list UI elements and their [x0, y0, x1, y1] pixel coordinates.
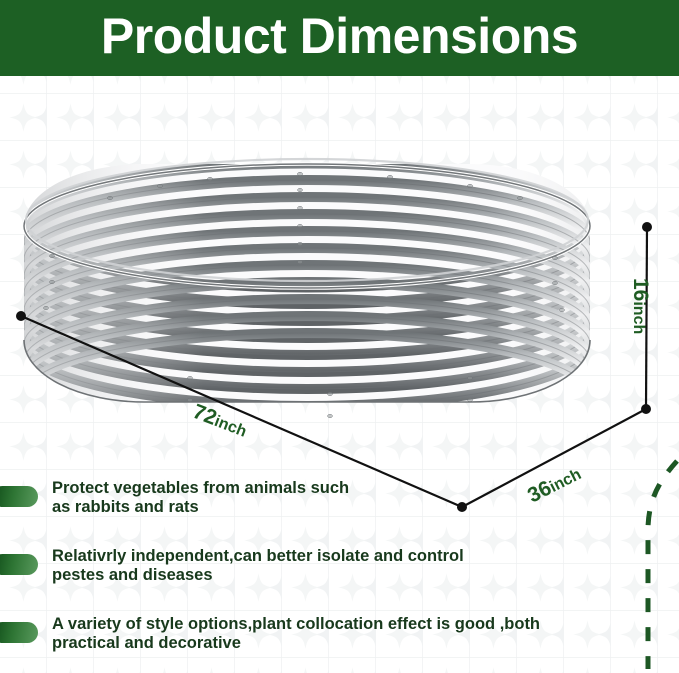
feature-text: Relativrly independent,can better isolat… — [52, 547, 464, 586]
feature-text: A variety of style options,plant colloca… — [52, 615, 540, 654]
feature-line-1: Relativrly independent,can better isolat… — [52, 547, 464, 565]
product-illustration — [0, 78, 679, 518]
outer-wall-ribs — [0, 148, 679, 457]
feature-list: Protect vegetables from animals such as … — [0, 473, 679, 673]
bullet-pill-icon — [0, 622, 38, 643]
list-item: A variety of style options,plant colloca… — [0, 609, 679, 673]
header-banner: Product Dimensions — [0, 0, 679, 76]
product-dimensions-infographic: 72inch 36inch 16inch Product Dimensions … — [0, 0, 679, 673]
page-title: Product Dimensions — [101, 11, 578, 65]
feature-line-2: pestes and diseases — [52, 566, 464, 585]
height-dimension-label: 16inch — [628, 278, 652, 334]
list-item: Relativrly independent,can better isolat… — [0, 541, 679, 609]
bullet-pill-icon — [0, 486, 38, 507]
feature-line-2: practical and decorative — [52, 634, 540, 653]
feature-line-2: as rabbits and rats — [52, 498, 349, 517]
bullet-pill-icon — [0, 554, 38, 575]
feature-text: Protect vegetables from animals such as … — [52, 479, 349, 518]
raised-garden-bed-drawing — [0, 78, 679, 518]
feature-line-1: A variety of style options,plant colloca… — [52, 615, 540, 633]
list-item: Protect vegetables from animals such as … — [0, 473, 679, 541]
feature-line-1: Protect vegetables from animals such — [52, 479, 349, 497]
